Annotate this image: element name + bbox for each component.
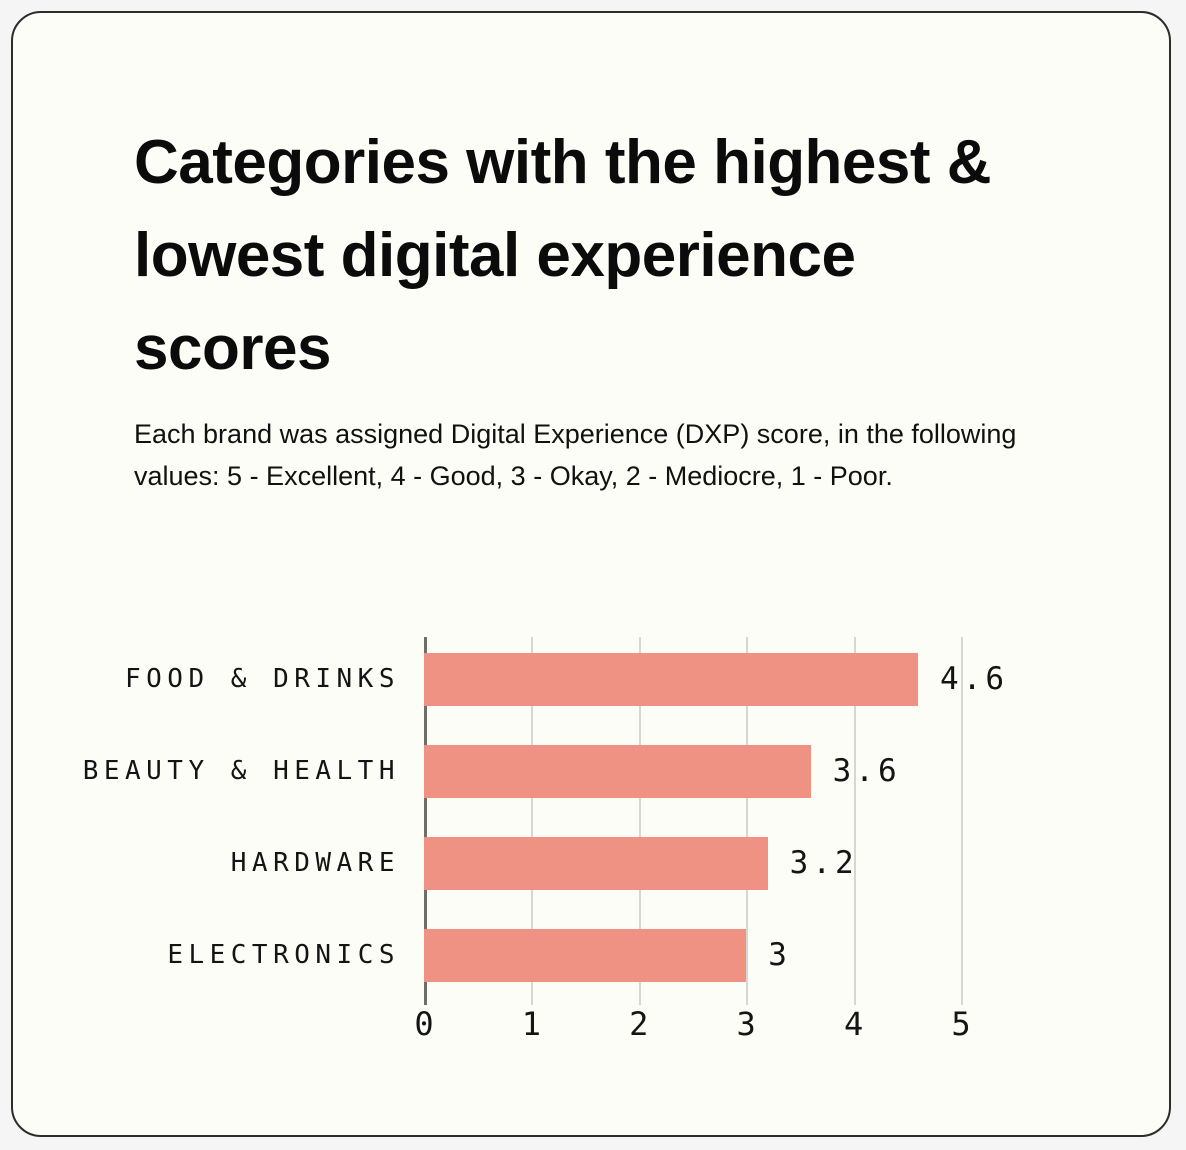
bar[interactable] (424, 837, 768, 890)
x-axis: 012345 (424, 1005, 961, 1051)
category-label: BEAUTY & HEALTH (83, 745, 400, 798)
bar-value-label: 4.6 (940, 653, 1008, 706)
bar[interactable] (424, 745, 811, 798)
category-label: FOOD & DRINKS (125, 653, 400, 706)
x-tick-label: 3 (726, 1005, 766, 1043)
bar[interactable] (424, 653, 918, 706)
x-tick-label: 0 (404, 1005, 444, 1043)
x-tick-label: 1 (511, 1005, 551, 1043)
chart-subtitle: Each brand was assigned Digital Experien… (134, 413, 1084, 497)
page-title: Categories with the highest & lowest dig… (134, 116, 1054, 395)
category-label: HARDWARE (231, 837, 400, 890)
x-tick-label: 5 (941, 1005, 981, 1043)
bar-row[interactable]: BEAUTY & HEALTH3.6 (424, 745, 961, 798)
chart-card: Categories with the highest & lowest dig… (11, 11, 1171, 1137)
bar-chart: FOOD & DRINKS4.6BEAUTY & HEALTH3.6HARDWA… (13, 613, 1171, 1053)
bar-row[interactable]: HARDWARE3.2 (424, 837, 961, 890)
plot-area: FOOD & DRINKS4.6BEAUTY & HEALTH3.6HARDWA… (424, 637, 961, 1005)
bar-value-label: 3 (768, 929, 791, 982)
x-tick-label: 2 (619, 1005, 659, 1043)
category-label: ELECTRONICS (167, 929, 400, 982)
bar-value-label: 3.2 (790, 837, 858, 890)
bar-value-label: 3.6 (833, 745, 901, 798)
bar[interactable] (424, 929, 746, 982)
x-tick-label: 4 (834, 1005, 874, 1043)
bar-row[interactable]: ELECTRONICS3 (424, 929, 961, 982)
bar-row[interactable]: FOOD & DRINKS4.6 (424, 653, 961, 706)
